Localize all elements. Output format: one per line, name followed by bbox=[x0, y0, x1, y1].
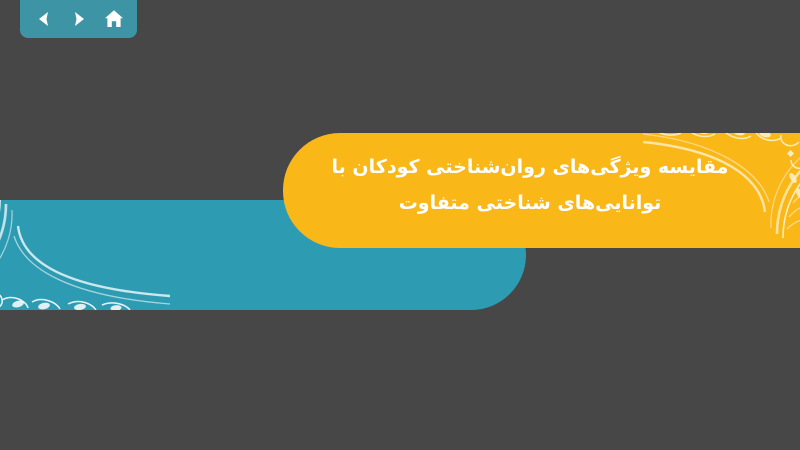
arabesque-ornament-teal bbox=[0, 200, 170, 310]
slide-title-line-1: مقایسه ویژگی‌های روان‌شناختی کودکان با bbox=[300, 149, 760, 185]
navigation-bar bbox=[20, 0, 137, 38]
slide-title-line-2: توانایی‌های شناختی متفاوت bbox=[300, 185, 760, 221]
back-icon bbox=[34, 9, 54, 29]
home-icon bbox=[103, 8, 125, 30]
presentation-slide: مقایسه ویژگی‌های روان‌شناختی کودکان با ت… bbox=[0, 0, 800, 450]
back-button[interactable] bbox=[30, 5, 58, 33]
forward-button[interactable] bbox=[65, 5, 93, 33]
home-button[interactable] bbox=[100, 5, 128, 33]
slide-title: مقایسه ویژگی‌های روان‌شناختی کودکان با ت… bbox=[300, 149, 760, 221]
forward-icon bbox=[69, 9, 89, 29]
